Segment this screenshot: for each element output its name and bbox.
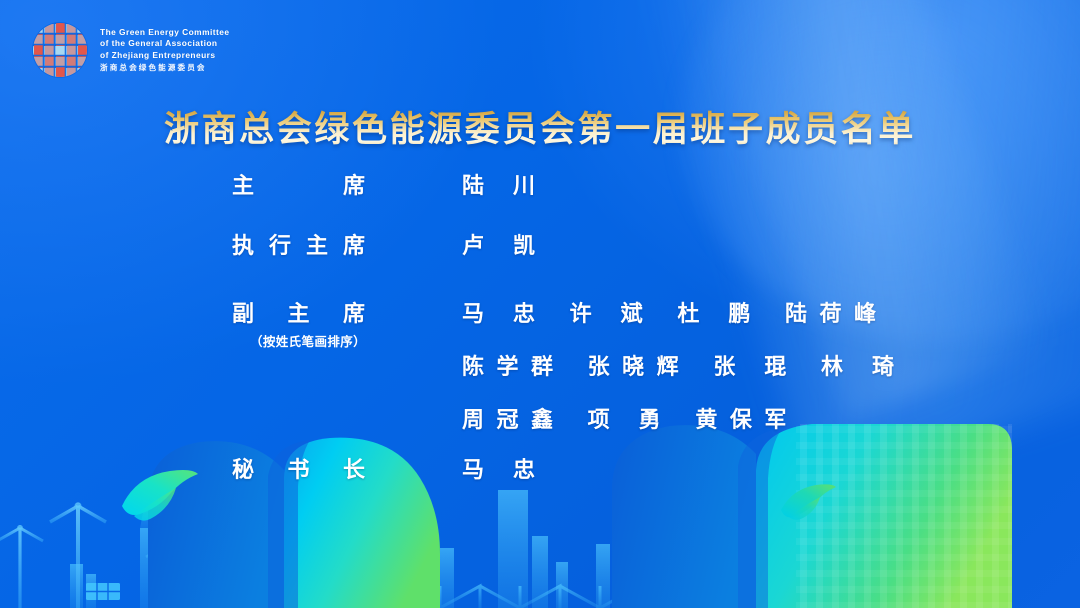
member-name: 马忠 (462, 452, 536, 484)
brand-english-line-1: The Green Energy Committee (100, 27, 229, 38)
member-name: 陆川 (462, 168, 536, 200)
page-title: 浙商总会绿色能源委员会第一届班子成员名单 (0, 101, 1080, 152)
solar-panel-icon (86, 583, 120, 600)
brand-text-block: The Green Energy Committee of the Genera… (100, 27, 229, 72)
role-label-executive-chairman: 执行主席 (232, 228, 462, 260)
member-name: 林琦 (821, 349, 895, 381)
slide-canvas: The Green Energy Committee of the Genera… (0, 0, 1080, 608)
names-chairman: 陆川 (462, 168, 1080, 200)
names-vice-chairmen: 马忠 许斌 杜鹏 陆荷峰 陈学群 张晓辉 张琨 林琦 周冠鑫 项勇 黄保军 (462, 296, 1080, 434)
member-name: 张晓辉 (588, 349, 680, 381)
role-title-secretary-general: 秘书长 (232, 452, 367, 484)
role-label-secretary-general: 秘书长 (232, 452, 462, 484)
role-label-chairman: 主席 (232, 168, 462, 200)
brand-lockup: The Green Energy Committee of the Genera… (32, 22, 229, 78)
bridge-icon (386, 586, 660, 608)
leaf-icon-middle (778, 482, 844, 526)
member-name: 黄保军 (695, 402, 787, 434)
name-line: 陈学群 张晓辉 张琨 林琦 (462, 349, 1080, 381)
roster-row-secretary-general: 秘书长 马忠 (0, 452, 1080, 484)
member-name: 杜鹏 (677, 296, 751, 328)
role-title-vice-chairmen: 副主席 (232, 296, 367, 328)
role-label-vice-chairmen: 副主席 （按姓氏笔画排序） (232, 296, 462, 350)
brand-english-line-2: of the General Association (100, 38, 229, 49)
name-line: 马忠 许斌 杜鹏 陆荷峰 (462, 296, 1080, 328)
role-title-chairman: 主席 (232, 168, 367, 200)
city-skyline-icon (70, 476, 625, 608)
brand-chinese-name: 浙商总会绿色能源委员会 (100, 63, 229, 73)
role-title-executive-chairman: 执行主席 (232, 228, 367, 260)
brand-english-line-3: of Zhejiang Entrepreneurs (100, 50, 229, 61)
roster-row-chairman: 主席 陆川 (0, 168, 1080, 200)
roster-list: 主席 陆川 执行主席 卢凯 副主席 （按姓氏笔画排序） (0, 168, 1080, 484)
member-name: 陆荷峰 (785, 296, 877, 328)
member-name: 张琨 (713, 349, 787, 381)
role-note-sort-order: （按姓氏笔画排序） (232, 331, 384, 350)
member-name: 许斌 (570, 296, 644, 328)
names-secretary-general: 马忠 (462, 452, 1080, 484)
woven-circle-logo-icon (32, 22, 88, 78)
name-line: 卢凯 (462, 228, 1080, 260)
member-name: 陈学群 (462, 349, 554, 381)
names-executive-chairman: 卢凯 (462, 228, 1080, 260)
name-line: 马忠 (462, 452, 1080, 484)
member-name: 马忠 (462, 296, 536, 328)
roster-row-executive-chairman: 执行主席 卢凯 (0, 228, 1080, 260)
wind-turbine-icon (0, 474, 263, 608)
name-line: 陆川 (462, 168, 1080, 200)
roster-row-vice-chairmen: 副主席 （按姓氏笔画排序） 马忠 许斌 杜鹏 陆荷峰 陈学群 张晓辉 张琨 林琦… (0, 296, 1080, 434)
page-title-text: 浙商总会绿色能源委员会第一届班子成员名单 (164, 110, 916, 150)
member-name: 周冠鑫 (462, 402, 554, 434)
name-line: 周冠鑫 项勇 黄保军 (462, 402, 1080, 434)
member-name: 项勇 (588, 402, 662, 434)
member-name: 卢凯 (462, 228, 536, 260)
